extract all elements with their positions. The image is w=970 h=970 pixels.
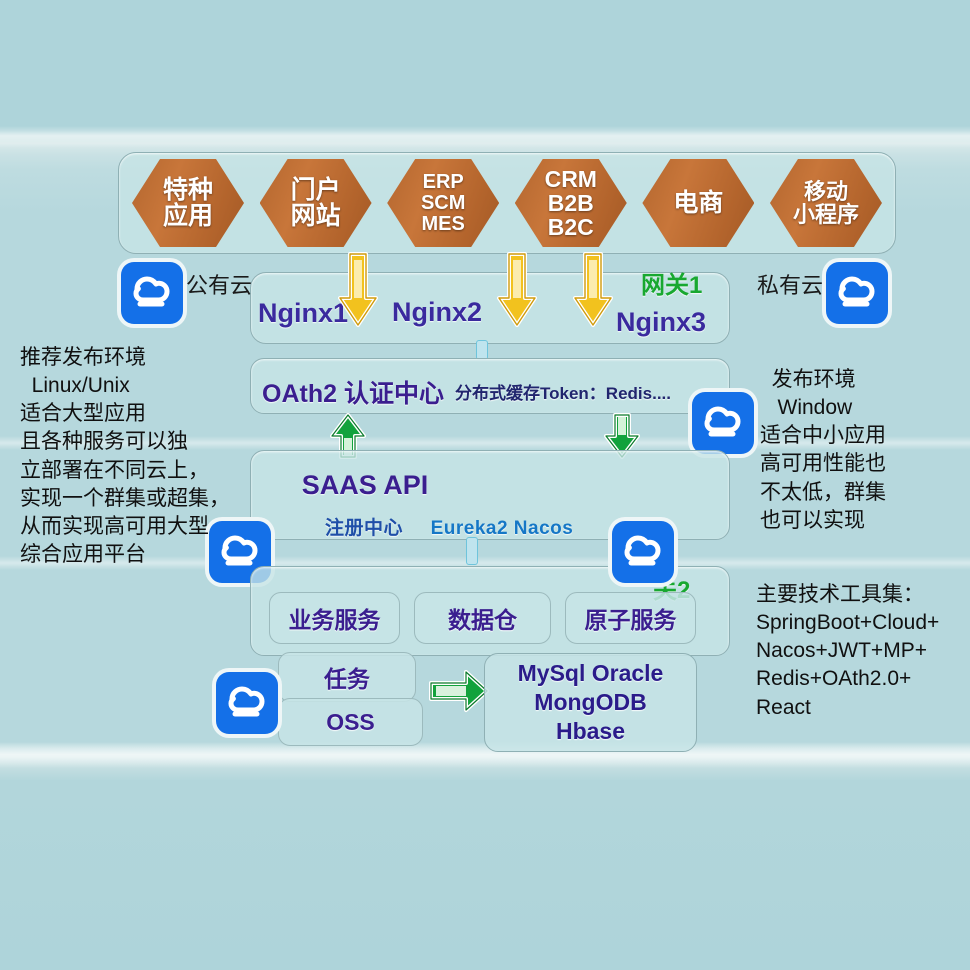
nginx1-label[interactable]: Nginx1 (258, 298, 348, 329)
hex-line: MES (422, 213, 465, 235)
task-box[interactable]: 任务 (278, 652, 416, 702)
hex-line: 移动 (804, 179, 848, 204)
note-line: Redis+OAth2.0+ (756, 665, 939, 693)
cloud-icon (216, 672, 278, 734)
note-line: 且各种服务可以独 (20, 428, 230, 456)
hex-line: 电商 (673, 190, 723, 216)
registry-label: 注册中心 (325, 518, 403, 539)
note-line: Nacos+JWT+MP+ (756, 637, 939, 665)
registry-row: 注册中心 Eureka2 Nacos (325, 513, 573, 540)
app-hex-ecommerce[interactable]: 电商 (642, 159, 754, 247)
connector (476, 340, 488, 360)
hex-line: 特种 (163, 176, 213, 204)
db-line: MongODB (534, 689, 646, 715)
note-line: 不太低，群集 (760, 479, 886, 507)
left-deployment-note: 推荐发布环境 Linux/Unix 适合大型应用 且各种服务可以独 立部署在不同… (20, 344, 230, 569)
note-line: 发布环境 (760, 366, 886, 394)
note-line: 适合大型应用 (20, 400, 230, 428)
note-line: 综合应用平台 (20, 541, 230, 569)
note-line: Window (760, 394, 886, 422)
cloud-icon (692, 392, 754, 454)
nginx3-label[interactable]: Nginx3 (616, 307, 706, 338)
hex-line: CRM (545, 166, 597, 192)
note-line: 适合中小应用 (760, 422, 886, 450)
background-sheen-top (0, 126, 970, 148)
service-box-atomic[interactable]: 原子服务 (565, 592, 696, 644)
cloud-icon (121, 262, 183, 324)
registry-items: Eureka2 Nacos (431, 518, 574, 539)
service-box-business[interactable]: 业务服务 (269, 592, 400, 644)
hex-line: ERP (423, 171, 464, 193)
note-line: Linux/Unix (20, 372, 230, 400)
note-line: 立部署在不同云上， (20, 457, 230, 485)
diagram-canvas: 特种 应用 门户 网站 ERP SCM MES CRM B2B B2C 电商 移… (0, 0, 970, 970)
note-line: 从而实现高可用大型 (20, 513, 230, 541)
tech-stack-note: 主要技术工具集： SpringBoot+Cloud+ Nacos+JWT+MP+… (756, 581, 939, 722)
db-line: Hbase (556, 718, 625, 744)
note-line: 推荐发布环境 (20, 344, 230, 372)
app-hex-portal-website[interactable]: 门户 网站 (260, 159, 372, 247)
cloud-icon (826, 262, 888, 324)
hex-line: B2B (548, 190, 594, 216)
oss-box[interactable]: OSS (278, 698, 423, 746)
note-line: 实现一个群集或超集， (20, 485, 230, 513)
db-line: MySql Oracle (518, 660, 664, 686)
note-line: 高可用性能也 (760, 450, 886, 478)
hex-line: 门户 (291, 176, 341, 204)
app-hex-erp-scm-mes[interactable]: ERP SCM MES (387, 159, 499, 247)
note-line: 也可以实现 (760, 507, 886, 535)
hex-line: 小程序 (793, 202, 859, 227)
connector (466, 537, 478, 565)
note-line: React (756, 694, 939, 722)
hex-line: SCM (421, 192, 465, 214)
app-hex-mobile-miniprogram[interactable]: 移动 小程序 (770, 159, 882, 247)
arrow-down-yellow-icon (497, 252, 537, 333)
database-box[interactable]: MySql Oracle MongODB Hbase (484, 653, 697, 752)
hex-line: B2C (548, 214, 594, 240)
oauth2-title: OAth2 认证中心 (262, 374, 444, 410)
hex-line: 应用 (163, 202, 213, 230)
gateway1-label: 网关1 (641, 265, 702, 300)
service-box-datawarehouse[interactable]: 数据仓 (414, 592, 551, 644)
application-hexagon-row: 特种 应用 门户 网站 ERP SCM MES CRM B2B B2C 电商 移… (118, 152, 896, 254)
private-cloud-label: 私有云 (757, 268, 823, 300)
right-deployment-note: 发布环境 Window 适合中小应用 高可用性能也 不太低，群集 也可以实现 (760, 366, 886, 535)
token-cache-label: 分布式缓存Token：Redis.... (455, 379, 671, 404)
arrow-down-yellow-icon (573, 252, 613, 333)
arrow-down-yellow-icon (338, 252, 378, 333)
arrow-right-green-icon (428, 668, 490, 719)
nginx2-label[interactable]: Nginx2 (392, 297, 482, 328)
note-line: 主要技术工具集： (756, 581, 939, 609)
cloud-icon (612, 521, 674, 583)
note-line: SpringBoot+Cloud+ (756, 609, 939, 637)
app-hex-special-application[interactable]: 特种 应用 (132, 159, 244, 247)
public-cloud-label: 公有云 (186, 268, 252, 300)
app-hex-crm-b2b-b2c[interactable]: CRM B2B B2C (515, 159, 627, 247)
hex-line: 网站 (291, 202, 341, 230)
background-sheen-bottom (0, 742, 970, 768)
